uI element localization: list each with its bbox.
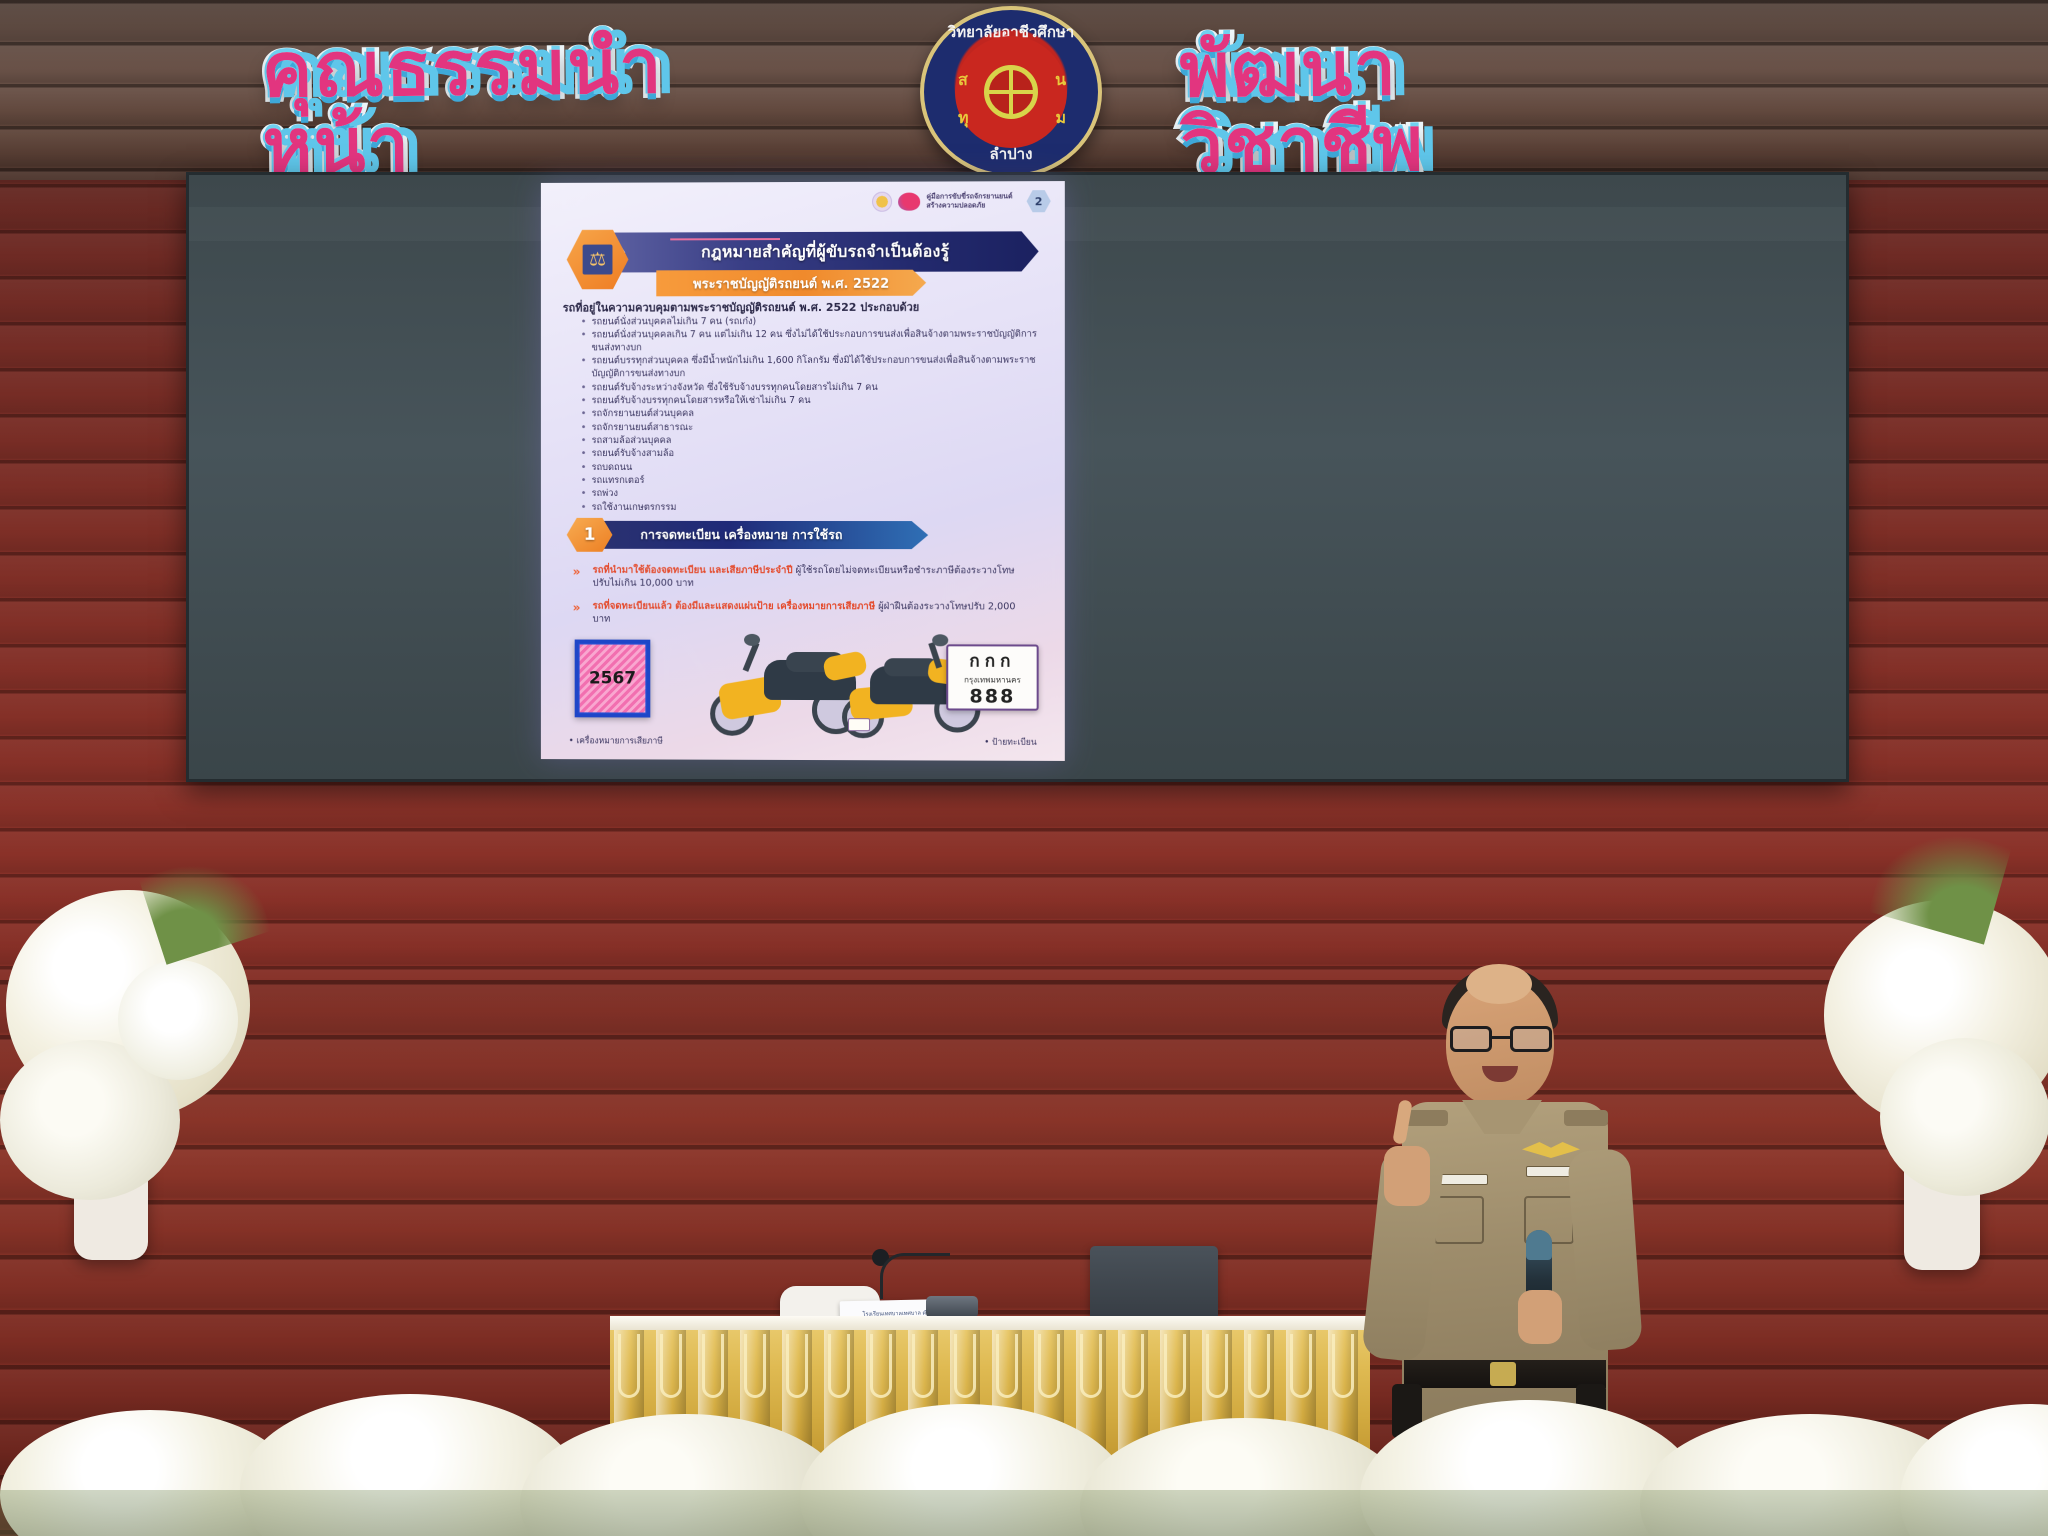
government-seal-icon: [872, 192, 892, 212]
key-point-2: » รถที่จดทะเบียนแล้ว ต้องมีและแสดงแผ่นป้…: [573, 600, 1023, 628]
mirror-icon: [932, 634, 948, 646]
lens-left: [1450, 1026, 1492, 1052]
list-item: รถยนต์นั่งส่วนบุคคลเกิน 7 คน แต่ไม่เกิน …: [579, 329, 1041, 355]
key-point-2-highlight: รถที่จดทะเบียนแล้ว ต้องมีและแสดงแผ่นป้าย…: [593, 601, 875, 612]
photo-scene: คุณธรรมนำหน้า วิทยาลัยอาชีวศึกษา ส น ทุ …: [0, 0, 2048, 1536]
slide-header-caption: คู่มือการขับขี่รถจักรยานยนต์ สร้างความปล…: [926, 193, 1012, 211]
slide-title-row: ⚖ กฎหมายสำคัญที่ผู้ขับรถจำเป็นต้องรู้ พร…: [567, 225, 1039, 284]
section-header-label: การจดทะเบียน เครื่องหมาย การใช้รถ: [640, 525, 842, 545]
emblem-letter-2: น: [1055, 68, 1066, 93]
tax-sticker-inner: 2567: [579, 644, 647, 714]
lens-right: [1510, 1026, 1552, 1052]
list-item: รถใช้งานเกษตรกรรม: [579, 502, 1041, 515]
list-item: รถสามล้อส่วนบุคคล: [579, 435, 1041, 448]
list-item: รถยนต์นั่งส่วนบุคคลไม่เกิน 7 คน (รถเก๋ง): [579, 316, 1041, 330]
double-chevron-icon: »: [573, 601, 579, 615]
slide-title: กฎหมายสำคัญที่ผู้ขับรถจำเป็นต้องรู้: [701, 239, 949, 265]
list-item: รถจักรยานยนต์สาธารณะ: [579, 421, 1041, 434]
forehead: [1466, 964, 1532, 1004]
plate-letters: กกก: [969, 647, 1015, 674]
mirror-icon: [744, 634, 760, 646]
hand-raised: [1384, 1146, 1430, 1206]
bridge: [1492, 1036, 1510, 1039]
slide-page-number: 2: [1027, 190, 1051, 212]
list-item: รถพ่วง: [579, 488, 1041, 501]
hand-holding-microphone: [1518, 1290, 1562, 1344]
banner-left: คุณธรรมนำหน้า: [262, 56, 703, 157]
flower-cluster: [118, 960, 238, 1080]
list-item: รถยนต์รับจ้างสามล้อ: [579, 448, 1041, 461]
slide-figures: 2567: [559, 634, 1049, 747]
key-point-1: » รถที่นำมาใช้ต้องจดทะเบียน และเสียภาษีป…: [573, 564, 1023, 591]
tax-sticker-image: 2567: [575, 640, 651, 718]
slide-subtitle-bar: พระราชบัญญัติรถยนต์ พ.ศ. 2522: [656, 270, 926, 297]
banner-right: พัฒนาวิชาชีพ: [1180, 56, 1621, 157]
list-item: รถยนต์บรรทุกส่วนบุคคล ซึ่งมีน้ำหนักไม่เก…: [579, 355, 1041, 381]
college-emblem: วิทยาลัยอาชีวศึกษา ส น ทุ ม ลำปาง: [920, 6, 1102, 178]
tax-sticker-year: 2567: [589, 668, 636, 688]
epaulette-right: [1564, 1110, 1608, 1126]
key-point-2-text: รถที่จดทะเบียนแล้ว ต้องมีและแสดงแผ่นป้าย…: [573, 600, 1023, 628]
foreground-flower-row: [0, 1370, 2048, 1536]
slide-header: คู่มือการขับขี่รถจักรยานยนต์ สร้างความปล…: [541, 181, 1065, 223]
emblem-ring-bottom-text: ลำปาง: [924, 142, 1098, 166]
name-tag-left: [1436, 1174, 1488, 1185]
section-header-bar: การจดทะเบียน เครื่องหมาย การใช้รถ: [599, 521, 929, 549]
slide-lead-text: รถที่อยู่ในความควบคุมตามพระราชบัญญัติรถย…: [563, 297, 1043, 316]
plate-caption: • ป้ายทะเบียน: [984, 735, 1036, 749]
foliage-base: [0, 1490, 2048, 1536]
mini-plate-icon: [848, 718, 870, 731]
emblem-letter-1: ส: [958, 68, 968, 93]
key-point-1-text: รถที่นำมาใช้ต้องจดทะเบียน และเสียภาษีประ…: [573, 564, 1023, 591]
key-point-1-highlight: รถที่นำมาใช้ต้องจดทะเบียน และเสียภาษีประ…: [593, 565, 793, 576]
slide-subtitle: พระราชบัญญัติรถยนต์ พ.ศ. 2522: [693, 272, 889, 293]
tax-sticker-caption: • เครื่องหมายการเสียภาษี: [569, 733, 663, 747]
double-chevron-icon: »: [573, 565, 579, 579]
list-item: รถบดถนน: [579, 462, 1041, 475]
list-item: รถจักรยานยนต์ส่วนบุคคล: [579, 408, 1041, 421]
license-plate-image: กกก กรุงเทพมหานคร 888: [946, 644, 1038, 710]
slide-header-line2: สร้างความปลอดภัย: [926, 201, 1012, 210]
microphone-gooseneck: [880, 1253, 950, 1299]
eyeglasses-icon: [1450, 1026, 1552, 1052]
book-icon: ⚖: [583, 245, 613, 275]
dharma-wheel-icon: [984, 65, 1038, 119]
banner-right-text: พัฒนาวิชาชีพ: [1179, 28, 1621, 185]
plate-number: 888: [969, 685, 1015, 707]
arm-right: [1567, 1148, 1643, 1352]
microphone-grille-icon: [1526, 1230, 1552, 1260]
microphone-base: [926, 1296, 978, 1318]
banner-left-text: คุณธรรมนำหน้า: [261, 28, 703, 185]
emblem-core: [955, 36, 1067, 148]
heart-campaign-icon: [898, 193, 920, 211]
list-item: รถยนต์รับจ้างระหว่างจังหวัด ซึ่งใช้รับจ้…: [579, 381, 1041, 394]
list-item: รถยนต์รับจ้างบรรทุกคนโดยสารหรือให้เช่าไม…: [579, 395, 1041, 408]
vehicle-type-list: รถยนต์นั่งส่วนบุคคลไม่เกิน 7 คน (รถเก๋ง)…: [579, 316, 1041, 516]
scales-of-justice-icon: ⚖: [589, 250, 606, 269]
mirror-stem: [743, 642, 760, 672]
list-item: รถแทรกเตอร์: [579, 475, 1041, 488]
emblem-letter-3: ทุ: [958, 106, 969, 131]
slide-title-bar: กฎหมายสำคัญที่ผู้ขับรถจำเป็นต้องรู้: [612, 231, 1038, 272]
section-header-row: 1 การจดทะเบียน เครื่องหมาย การใช้รถ: [567, 518, 967, 552]
flower-cluster: [1880, 1038, 2048, 1196]
shirt-pocket-left: [1434, 1196, 1484, 1244]
presentation-slide: คู่มือการขับขี่รถจักรยานยนต์ สร้างความปล…: [541, 181, 1065, 761]
slide-header-line1: คู่มือการขับขี่รถจักรยานยนต์: [926, 193, 1012, 202]
emblem-letter-4: ม: [1055, 106, 1066, 131]
